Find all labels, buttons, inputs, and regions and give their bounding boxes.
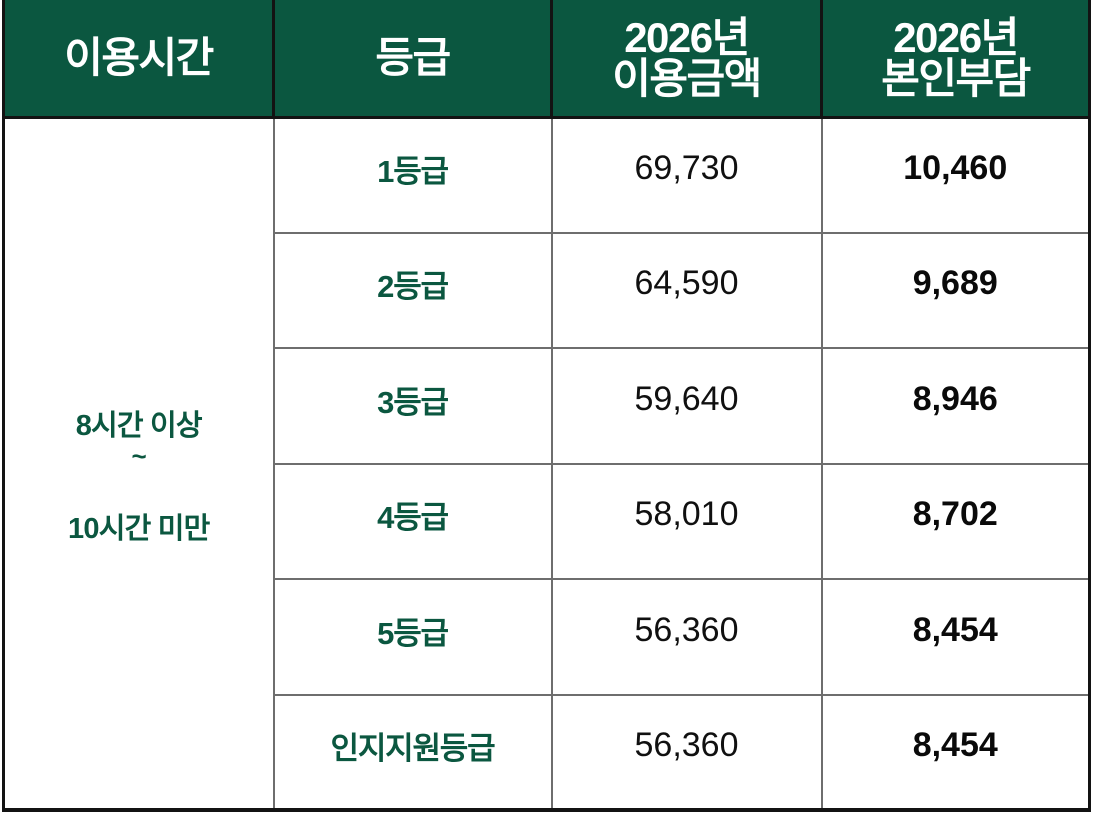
column-header-2026-self-payment: 2026년 본인부담 [822, 0, 1090, 117]
self-payment-cell: 8,702 [822, 464, 1090, 580]
usage-amount-cell: 59,640 [552, 348, 822, 464]
grade-cell: 인지지원등급 [274, 695, 552, 811]
usage-amount-cell: 64,590 [552, 233, 822, 349]
table-row: 8시간 이상 ~ 10시간 미만 1등급 69,730 10,460 [4, 117, 1090, 233]
self-payment-cell: 8,454 [822, 579, 1090, 695]
grade-cell: 3등급 [274, 348, 552, 464]
usage-time-line-1: 8시간 이상 [76, 410, 202, 442]
grade-cell: 4등급 [274, 464, 552, 580]
table-body: 8시간 이상 ~ 10시간 미만 1등급 69,730 10,460 2등급 6… [4, 117, 1090, 810]
grade-cell: 2등급 [274, 233, 552, 349]
usage-amount-cell: 56,360 [552, 579, 822, 695]
self-payment-cell: 9,689 [822, 233, 1090, 349]
header-row: 이용시간 등급 2026년 이용금액 2026년 본인부담 [4, 0, 1090, 117]
care-fee-table: 이용시간 등급 2026년 이용금액 2026년 본인부담 8시간 이상 ~ 1… [2, 0, 1091, 812]
column-header-grade: 등급 [274, 0, 552, 117]
self-payment-cell: 8,946 [822, 348, 1090, 464]
self-payment-cell: 10,460 [822, 117, 1090, 233]
usage-amount-cell: 58,010 [552, 464, 822, 580]
usage-time-line-2: 10시간 미만 [68, 513, 209, 545]
grade-cell: 1등급 [274, 117, 552, 233]
usage-amount-cell: 69,730 [552, 117, 822, 233]
column-header-2026-usage-amount: 2026년 이용금액 [552, 0, 822, 117]
table-header: 이용시간 등급 2026년 이용금액 2026년 본인부담 [4, 0, 1090, 117]
column-header-usage-time: 이용시간 [4, 0, 274, 117]
usage-time-range-cell: 8시간 이상 ~ 10시간 미만 [4, 117, 274, 810]
self-payment-cell: 8,454 [822, 695, 1090, 811]
usage-time-tilde: ~ [5, 445, 273, 467]
usage-amount-cell: 56,360 [552, 695, 822, 811]
grade-cell: 5등급 [274, 579, 552, 695]
